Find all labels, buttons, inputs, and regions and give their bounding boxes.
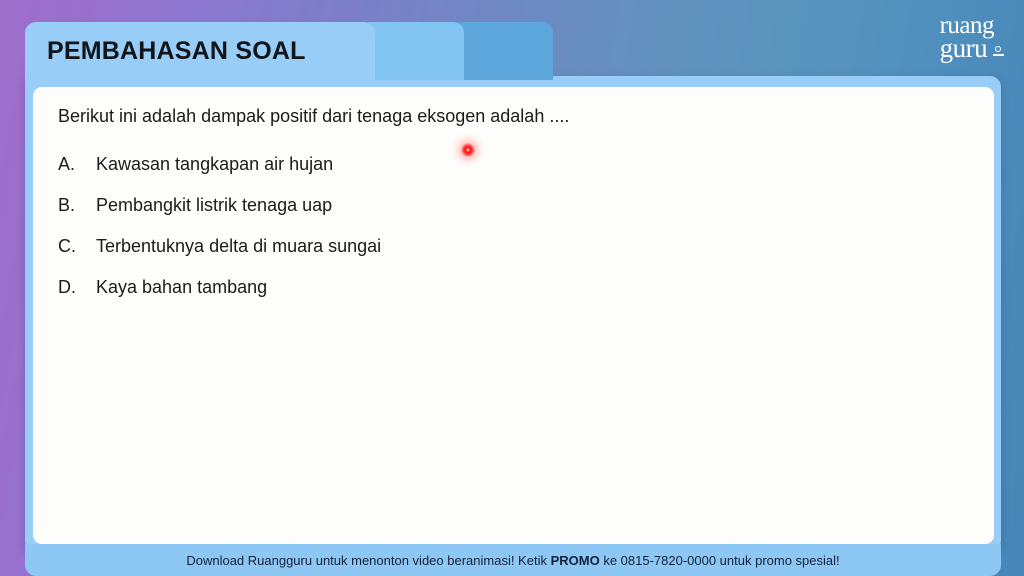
logo-circle-icon [995,46,1001,52]
option-c[interactable]: C. Terbentuknya delta di muara sungai [58,226,958,267]
logo-line-guru: guru [940,37,994,59]
tab-pembahasan-soal[interactable]: PEMBAHASAN SOAL [25,22,375,80]
promo-footer-text: Download Ruangguru untuk menonton video … [186,553,839,568]
promo-footer-bar: Download Ruangguru untuk menonton video … [25,544,1001,576]
logo-underscore-icon [993,54,1004,56]
option-b[interactable]: B. Pembangkit listrik tenaga uap [58,185,958,226]
tab-bar: PEMBAHASAN SOAL [25,22,553,80]
promo-text-before: Download Ruangguru untuk menonton video … [186,553,550,568]
option-d-letter: D. [58,277,96,298]
promo-text-after: ke 0815-7820-0000 untuk promo spesial! [600,553,840,568]
question-sheet: Berikut ini adalah dampak positif dari t… [33,87,994,544]
promo-keyword: PROMO [551,553,600,568]
option-c-label: Terbentuknya delta di muara sungai [96,236,381,257]
page-title: PEMBAHASAN SOAL [25,37,306,66]
option-a-letter: A. [58,154,96,175]
option-b-letter: B. [58,195,96,216]
click-indicator-icon [461,143,475,157]
option-d-label: Kaya bahan tambang [96,277,267,298]
option-b-label: Pembangkit listrik tenaga uap [96,195,332,216]
answer-options-list: A. Kawasan tangkapan air hujan B. Pemban… [58,144,958,308]
question-text: Berikut ini adalah dampak positif dari t… [58,106,569,127]
option-d[interactable]: D. Kaya bahan tambang [58,267,958,308]
option-c-letter: C. [58,236,96,257]
logo-guru-text: guru [940,33,988,63]
option-a-label: Kawasan tangkapan air hujan [96,154,333,175]
ruangguru-logo: ruang guru [940,16,994,59]
option-a[interactable]: A. Kawasan tangkapan air hujan [58,144,958,185]
